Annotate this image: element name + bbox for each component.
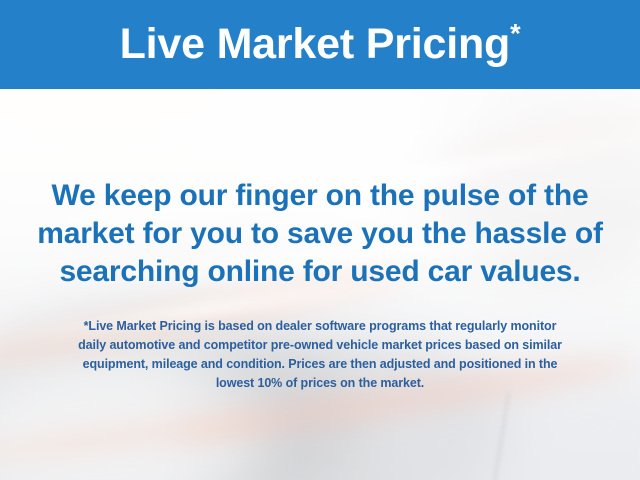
live-market-pricing-banner: Live Market Pricing* We keep our finger … bbox=[0, 0, 640, 480]
disclaimer-line-3: equipment, mileage and condition. Prices… bbox=[30, 355, 610, 374]
content-area: We keep our finger on the pulse of the m… bbox=[0, 89, 640, 480]
disclaimer-line-2: daily automotive and competitor pre-owne… bbox=[30, 336, 610, 355]
headline: We keep our finger on the pulse of the m… bbox=[20, 177, 620, 291]
headline-line-3: searching online for used car values. bbox=[20, 253, 620, 291]
disclaimer-line-1: *Live Market Pricing is based on dealer … bbox=[30, 317, 610, 336]
page-title: Live Market Pricing* bbox=[120, 23, 521, 66]
page-title-asterisk: * bbox=[510, 19, 520, 49]
headline-line-2: market for you to save you the hassle of bbox=[20, 215, 620, 253]
header-banner: Live Market Pricing* bbox=[0, 0, 640, 89]
page-title-text: Live Market Pricing bbox=[120, 20, 511, 68]
disclaimer-text: *Live Market Pricing is based on dealer … bbox=[30, 317, 610, 393]
headline-line-1: We keep our finger on the pulse of the bbox=[20, 177, 620, 215]
disclaimer-line-4: lowest 10% of prices on the market. bbox=[30, 374, 610, 393]
